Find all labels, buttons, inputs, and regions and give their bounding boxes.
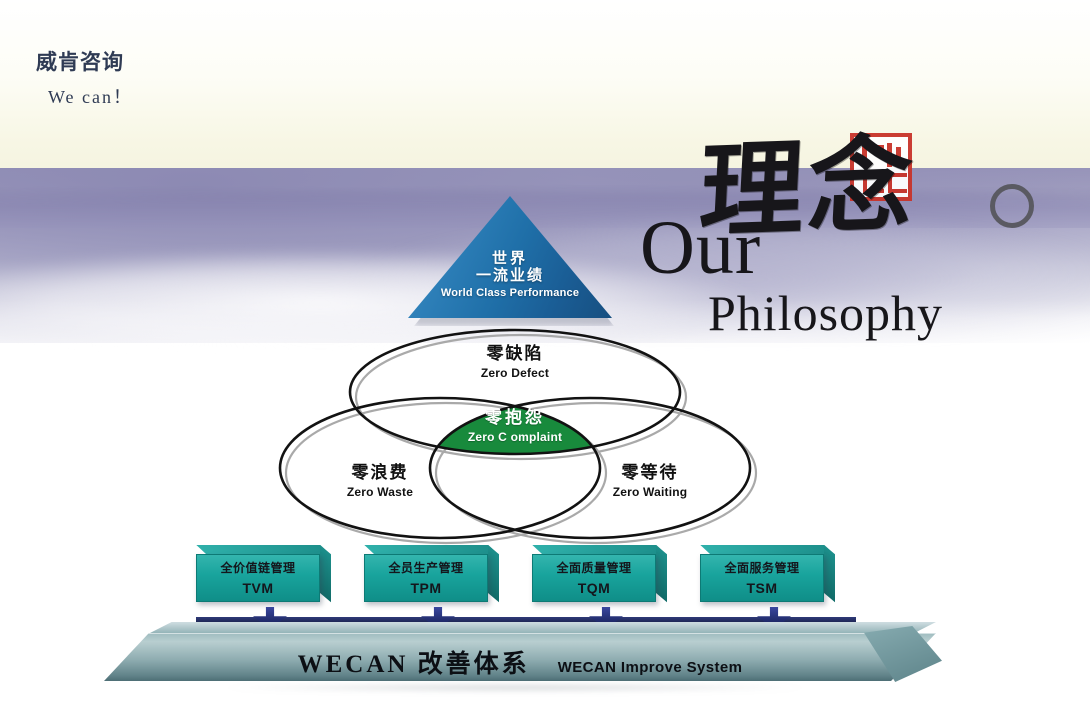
venn-defect-en: Zero Defect — [405, 366, 625, 380]
pillar-cn-0: 全价值链管理 — [220, 562, 295, 574]
brand-header: 威肯咨询 We can！ — [36, 52, 133, 109]
pyramid-en: World Class Performance — [408, 287, 612, 299]
base-text: WECAN 改善体系 WECAN Improve System — [104, 644, 936, 680]
venn-label-zero-complaint: 零抱怨 Zero C omplaint — [415, 408, 615, 444]
pillar-cn-2: 全面质量管理 — [556, 562, 631, 574]
base-top-face — [148, 622, 936, 634]
calligraphy-circle-icon — [990, 184, 1034, 228]
venn-waiting-cn: 零等待 — [555, 463, 745, 483]
box-side-face — [656, 545, 667, 602]
philosophy-title-block: 理念 Our Philosophy — [628, 128, 1068, 343]
title-our: Our — [640, 210, 761, 286]
venn-complaint-en: Zero C omplaint — [415, 430, 615, 444]
venn-waiting-en: Zero Waiting — [555, 485, 745, 499]
pillar-abbr-0: TVM — [242, 581, 273, 595]
venn-defect-cn: 零缺陷 — [405, 344, 625, 364]
pillar-box-tvm[interactable]: 全价值链管理 TVM — [196, 554, 320, 602]
slide-canvas: 威肯咨询 We can！ 理念 Our Philosophy 世界 一流业绩 W… — [0, 0, 1090, 727]
pillar-box-tpm[interactable]: 全员生产管理 TPM — [364, 554, 488, 602]
pillar-abbr-3: TSM — [746, 581, 777, 595]
pillar-abbr-1: TPM — [410, 581, 441, 595]
pyramid-cn-line2: 一流业绩 — [408, 267, 612, 284]
base-title-en: WECAN Improve System — [558, 659, 743, 676]
box-top-face — [532, 545, 666, 554]
base-title-cn: WECAN 改善体系 — [298, 644, 530, 680]
venn-complaint-cn: 零抱怨 — [415, 408, 615, 428]
box-front-face: 全价值链管理 TVM — [196, 554, 320, 602]
box-top-face — [700, 545, 834, 554]
box-front-face: 全面服务管理 TSM — [700, 554, 824, 602]
venn-waste-cn: 零浪费 — [285, 463, 475, 483]
brand-name-cn: 威肯咨询 — [36, 52, 133, 73]
venn-label-zero-waste: 零浪费 Zero Waste — [285, 463, 475, 499]
pyramid-text: 世界 一流业绩 World Class Performance — [408, 250, 612, 299]
venn-label-zero-waiting: 零等待 Zero Waiting — [555, 463, 745, 499]
pillar-box-tsm[interactable]: 全面服务管理 TSM — [700, 554, 824, 602]
venn-label-zero-defect: 零缺陷 Zero Defect — [405, 344, 625, 380]
box-top-face — [196, 545, 330, 554]
box-side-face — [488, 545, 499, 602]
box-side-face — [824, 545, 835, 602]
pillar-box-tqm[interactable]: 全面质量管理 TQM — [532, 554, 656, 602]
base-slab: WECAN 改善体系 WECAN Improve System — [104, 622, 936, 690]
brand-slogan-en: We can！ — [48, 83, 133, 109]
venn-waste-en: Zero Waste — [285, 485, 475, 499]
box-top-face — [364, 545, 498, 554]
pillar-cn-1: 全员生产管理 — [388, 562, 463, 574]
pillar-cn-3: 全面服务管理 — [724, 562, 799, 574]
pillar-box-row: 全价值链管理 TVM 全员生产管理 TPM 全面质量管理 TQM 全面服务管 — [196, 546, 856, 614]
pillar-abbr-2: TQM — [578, 581, 611, 595]
venn-diagram: 零缺陷 Zero Defect 零浪费 Zero Waste 零等待 Zero … — [255, 320, 775, 545]
pyramid-apex: 世界 一流业绩 World Class Performance — [408, 196, 628, 324]
box-front-face: 全员生产管理 TPM — [364, 554, 488, 602]
pyramid-cn-line1: 世界 — [408, 250, 612, 267]
base-drop-shadow — [120, 684, 910, 693]
box-front-face: 全面质量管理 TQM — [532, 554, 656, 602]
box-side-face — [320, 545, 331, 602]
